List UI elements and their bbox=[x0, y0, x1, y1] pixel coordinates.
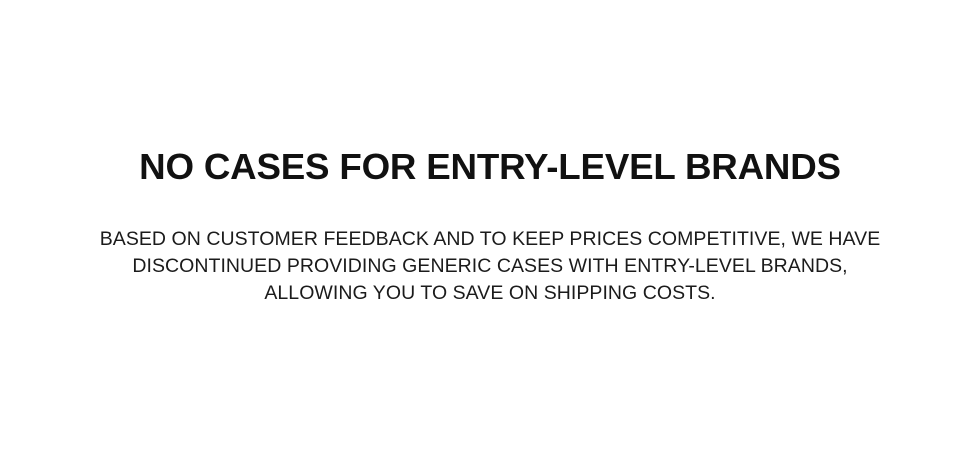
promo-body-container: BASED ON CUSTOMER FEEDBACK AND TO KEEP P… bbox=[90, 189, 890, 307]
promo-heading: NO CASES FOR ENTRY-LEVEL BRANDS bbox=[0, 145, 980, 189]
promo-body-text: BASED ON CUSTOMER FEEDBACK AND TO KEEP P… bbox=[90, 226, 890, 307]
promo-content: NO CASES FOR ENTRY-LEVEL BRANDS BASED ON… bbox=[0, 0, 980, 307]
promo-banner: NO CASES FOR ENTRY-LEVEL BRANDS BASED ON… bbox=[0, 0, 980, 450]
